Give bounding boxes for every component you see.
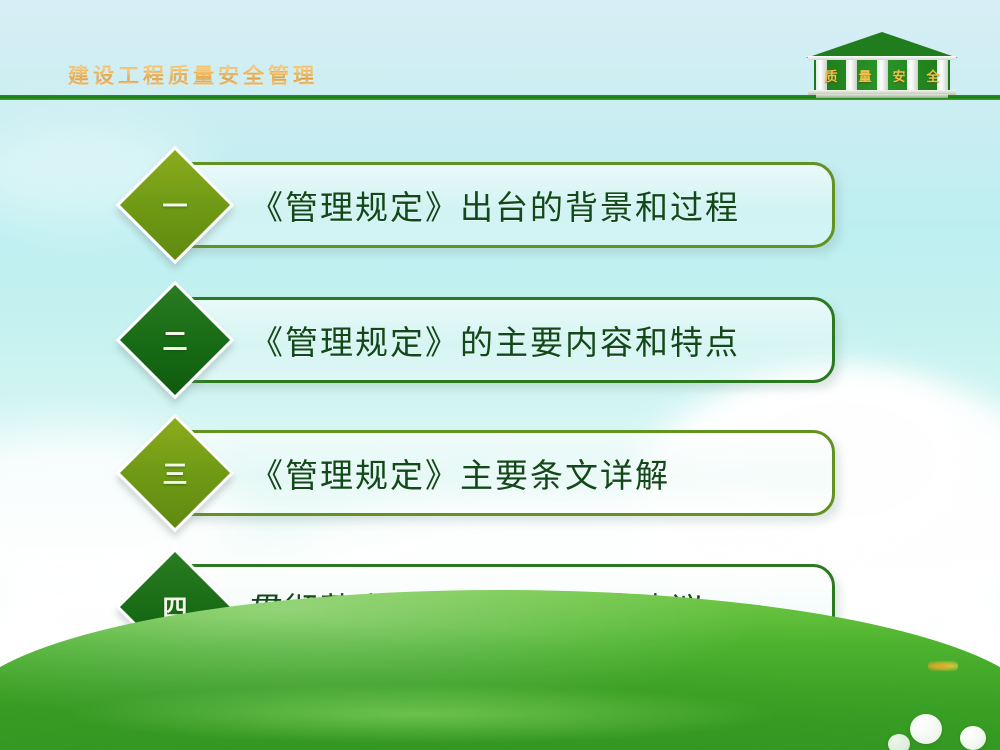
pebble-decoration-icon xyxy=(960,726,986,750)
grass-highlight xyxy=(60,684,780,744)
agenda-item-1[interactable]: 《管理规定》出台的背景和过程 一 xyxy=(125,146,835,264)
pebble-decoration-icon xyxy=(888,734,910,750)
agenda-item-2[interactable]: 《管理规定》的主要内容和特点 二 xyxy=(125,281,835,399)
agenda-item-1-number: 一 xyxy=(136,166,214,244)
flower-decoration-icon xyxy=(928,660,958,672)
pebble-decoration-icon xyxy=(910,714,942,744)
agenda-item-3-number: 三 xyxy=(136,434,214,512)
slide-canvas: 建设工程质量安全管理 质 量 安 全 《管理 xyxy=(0,0,1000,750)
agenda-item-3[interactable]: 《管理规定》主要条文详解 三 xyxy=(125,414,835,532)
agenda-item-2-number: 二 xyxy=(136,301,214,379)
